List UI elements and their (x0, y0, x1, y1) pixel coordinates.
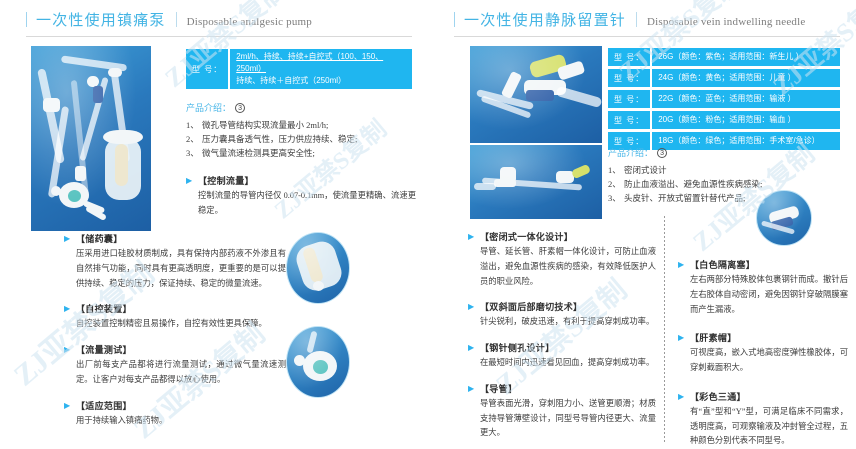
feature-item: ▶ 【钢针侧孔设计】 在最短时间内迅速看见回血，提高穿刺成功率。 (468, 341, 656, 371)
feature-item: ▶ 【流量测试】 出厂前每支产品都将进行流量测试，通过微气量流速测定。让客户对每… (64, 343, 286, 388)
header-divider-icon (636, 12, 637, 27)
feature-list-left: ▶ 【储药囊】 压采用进口硅胶材质制成，具有保持内部药液不外渗且有自然排气功能，… (64, 232, 286, 428)
feature-text: 在最短时间内迅速看见回血，提高穿刺成功率。 (480, 356, 656, 371)
model-value: 2ml/h、持续、持续+自控式（100、150、250ml） 持续、持续＋自控式… (230, 49, 412, 89)
bullet-triangle-icon: ▶ (468, 300, 480, 330)
feature-title: 【彩色三通】 (690, 390, 848, 403)
indwelling-needle-secondary-photo (470, 145, 602, 219)
feature-item: ▶ 【控制流量】 控制流量的导管内径仅 0.07-0.1mm，使流量更精确、流速… (186, 174, 416, 219)
intro-item-number: 1、 (608, 163, 624, 177)
model-label: 型 号： (608, 90, 650, 108)
feature-text: 用于持续输入镇痛药物。 (76, 414, 286, 429)
bullet-triangle-icon: ▶ (468, 382, 480, 441)
bullet-triangle-icon: ▶ (678, 331, 690, 376)
analgesic-pump-detail-controller-photo (286, 326, 350, 398)
header-accent-bar-icon (454, 12, 455, 27)
catalog-spread: 一次性使用镇痛泵 Disposable analgesic pump (0, 0, 856, 449)
feature-item: ▶ 【适应范围】 用于持续输入镇痛药物。 (64, 399, 286, 429)
feature-text: 有“直”型和“Y”型，可满足临床不同需求，透明度高，可观察输液及冲封管全过程，五… (690, 405, 848, 449)
intro-item-text: 微气量流速检测具更高安全性; (202, 146, 315, 160)
intro-item: 1、 微孔导管结构实现流量最小 2ml/h; (186, 118, 416, 132)
feature-text: 左右两部分特殊胶体包裹钢针而成。撤针后左右胶体自动密闭，避免因钢针穿破隔膜塞而产… (690, 273, 848, 317)
bullet-triangle-icon: ▶ (678, 258, 690, 317)
feature-title: 【导管】 (480, 382, 656, 395)
feature-text: 导管、延长管、肝素帽一体化设计，可防止血液溢出，避免血源性疾病的感染，有效降低医… (480, 245, 656, 289)
model-value: 24G（颜色：黄色；适用范围：儿童 ） (652, 69, 840, 87)
model-label: 型 号： (608, 111, 650, 129)
intro-badge: 3 (657, 148, 667, 158)
intro-item: 2、 防止血液溢出、避免血源性疾病感染; (608, 177, 808, 191)
feature-title: 【密闭式一体化设计】 (480, 230, 656, 243)
feature-item: ▶ 【导管】 导管表面光滑，穿刺阻力小、送管更顺滑；材质支持导管薄壁设计，同型号… (468, 382, 656, 441)
bullet-triangle-icon: ▶ (64, 399, 76, 429)
feature-text: 导管表面光滑，穿刺阻力小、送管更顺滑；材质支持导管薄壁设计，同型号导管内径更大、… (480, 397, 656, 441)
intro-title: 产品介绍：3 (186, 101, 416, 114)
bullet-triangle-icon: ▶ (64, 343, 76, 388)
model-value-line1: 2ml/h、持续、持续+自控式（100、150、250ml） (236, 51, 406, 75)
intro-item: 2、 压力囊具备透气性，压力供应持续、稳定; (186, 132, 416, 146)
feature-title: 【控制流量】 (198, 174, 416, 187)
feature-item: ▶ 【密闭式一体化设计】 导管、延长管、肝素帽一体化设计，可防止血液溢出，避免血… (468, 230, 656, 289)
bullet-triangle-icon: ▶ (64, 232, 76, 291)
model-block-left: 型 号： 2ml/h、持续、持续+自控式（100、150、250ml） 持续、持… (186, 49, 412, 92)
header-accent-bar-icon (26, 12, 27, 27)
page-header-right: 一次性使用静脉留置针 Disposable vein indwelling ne… (428, 0, 856, 30)
bullet-triangle-icon: ▶ (186, 174, 198, 219)
intro-title: 产品介绍：3 (608, 146, 808, 159)
feature-title: 【流量测试】 (76, 343, 286, 356)
feature-title: 【自控装置】 (76, 302, 286, 315)
intro-item-text: 头皮针、开放式留置针替代产品; (624, 191, 745, 205)
feature-title: 【肝素帽】 (690, 331, 848, 344)
analgesic-pump-detail-reservoir-photo (286, 232, 350, 304)
feature-item: ▶ 【彩色三通】 有“直”型和“Y”型，可满足临床不同需求，透明度高，可观察输液… (678, 390, 848, 449)
intro-item-text: 防止血液溢出、避免血源性疾病感染; (624, 177, 762, 191)
intro-title-text: 产品介绍： (608, 148, 653, 158)
intro-item-text: 密闭式设计 (624, 163, 667, 177)
intro-block-left: 产品介绍：3 1、 微孔导管结构实现流量最小 2ml/h; 2、 压力囊具备透气… (186, 92, 416, 219)
table-row: 型 号： 20G（颜色：粉色；适用范围：输血 ） (608, 111, 840, 129)
feature-title: 【白色隔离塞】 (690, 258, 848, 271)
analgesic-pump-main-photo (31, 46, 151, 231)
bullet-triangle-icon: ▶ (468, 230, 480, 289)
feature-title: 【双斜面后部磨切技术】 (480, 300, 656, 313)
intro-item: 3、 微气量流速检测具更高安全性; (186, 146, 416, 160)
model-value: 22G（颜色：蓝色；适用范围：输液 ） (652, 90, 840, 108)
intro-item-text: 微孔导管结构实现流量最小 2ml/h; (202, 118, 328, 132)
feature-text: 针尖锐利，破皮迅速，有利于提高穿刺成功率。 (480, 315, 656, 330)
intro-item-number: 1、 (186, 118, 202, 132)
feature-list-right-col1: ▶ 【密闭式一体化设计】 导管、延长管、肝素帽一体化设计，可防止血液溢出，避免血… (468, 230, 656, 441)
feature-item: ▶ 【储药囊】 压采用进口硅胶材质制成，具有保持内部药液不外渗且有自然排气功能，… (64, 232, 286, 291)
intro-title-text: 产品介绍： (186, 103, 231, 113)
model-label: 型 号： (608, 48, 650, 66)
model-label: 型 号： (186, 49, 228, 89)
feature-list-right-col2: ▶ 【白色隔离塞】 左右两部分特殊胶体包裹钢针而成。撤针后左右胶体自动密闭，避免… (678, 258, 848, 449)
feature-item: ▶ 【自控装置】 自控装置控制精密且易操作，自控有效性更具保障。 (64, 302, 286, 332)
feature-text: 压采用进口硅胶材质制成，具有保持内部药液不外渗且有自然排气功能，同时具有更高透明… (76, 247, 286, 291)
intro-item-number: 3、 (186, 146, 202, 160)
intro-item-number: 3、 (608, 191, 624, 205)
bullet-triangle-icon: ▶ (468, 341, 480, 371)
bullet-triangle-icon: ▶ (64, 302, 76, 332)
page-header-left: 一次性使用镇痛泵 Disposable analgesic pump (0, 0, 428, 30)
feature-item: ▶ 【双斜面后部磨切技术】 针尖锐利，破皮迅速，有利于提高穿刺成功率。 (468, 300, 656, 330)
intro-item-text: 压力囊具备透气性，压力供应持续、稳定; (202, 132, 357, 146)
model-table-right: 型 号： 26G（颜色：紫色；适用范围：新生儿 ） 型 号： 24G（颜色：黄色… (608, 48, 840, 153)
feature-title: 【适应范围】 (76, 399, 286, 412)
intro-item-number: 2、 (186, 132, 202, 146)
intro-badge: 3 (235, 103, 245, 113)
feature-text: 自控装置控制精密且易操作，自控有效性更具保障。 (76, 317, 286, 332)
page-analgesic-pump: 一次性使用镇痛泵 Disposable analgesic pump (0, 0, 428, 449)
model-value: 20G（颜色：粉色；适用范围：输血 ） (652, 111, 840, 129)
table-row: 型 号： 26G（颜色：紫色；适用范围：新生儿 ） (608, 48, 840, 66)
bullet-triangle-icon: ▶ (678, 390, 690, 449)
feature-title: 【储药囊】 (76, 232, 286, 245)
indwelling-needle-detail-circle-photo (756, 190, 812, 246)
page-title-en: Disposable analgesic pump (187, 16, 312, 28)
model-label: 型 号： (608, 69, 650, 87)
model-row: 型 号： 2ml/h、持续、持续+自控式（100、150、250ml） 持续、持… (186, 49, 412, 89)
table-row: 型 号： 24G（颜色：黄色；适用范围：儿童 ） (608, 69, 840, 87)
feature-text: 可视度高，嵌入式地高密度弹性橡胶体，可穿刺截面积大。 (690, 346, 848, 376)
page-indwelling-needle: 一次性使用静脉留置针 Disposable vein indwelling ne… (428, 0, 856, 449)
feature-item: ▶ 【肝素帽】 可视度高，嵌入式地高密度弹性橡胶体，可穿刺截面积大。 (678, 331, 848, 376)
page-title-cn: 一次性使用镇痛泵 (36, 9, 166, 30)
header-divider-icon (176, 12, 177, 27)
header-rule (454, 36, 840, 37)
table-row: 型 号： 22G（颜色：蓝色；适用范围：输液 ） (608, 90, 840, 108)
feature-title: 【钢针侧孔设计】 (480, 341, 656, 354)
indwelling-needle-main-photo (470, 46, 602, 143)
intro-item-number: 2、 (608, 177, 624, 191)
page-title-cn: 一次性使用静脉留置针 (464, 9, 626, 30)
feature-text: 控制流量的导管内径仅 0.07-0.1mm，使流量更精确、流速更稳定。 (198, 189, 416, 219)
feature-text: 出厂前每支产品都将进行流量测试，通过微气量流速测定。让客户对每支产品都得以放心使… (76, 358, 286, 388)
column-divider (664, 216, 665, 444)
model-value: 26G（颜色：紫色；适用范围：新生儿 ） (652, 48, 840, 66)
header-rule (26, 36, 412, 37)
intro-item: 1、 密闭式设计 (608, 163, 808, 177)
feature-item: ▶ 【白色隔离塞】 左右两部分特殊胶体包裹钢针而成。撤针后左右胶体自动密闭，避免… (678, 258, 848, 317)
page-title-en: Disposable vein indwelling needle (647, 16, 805, 28)
model-value-line2: 持续、持续＋自控式（250ml） (236, 75, 406, 87)
